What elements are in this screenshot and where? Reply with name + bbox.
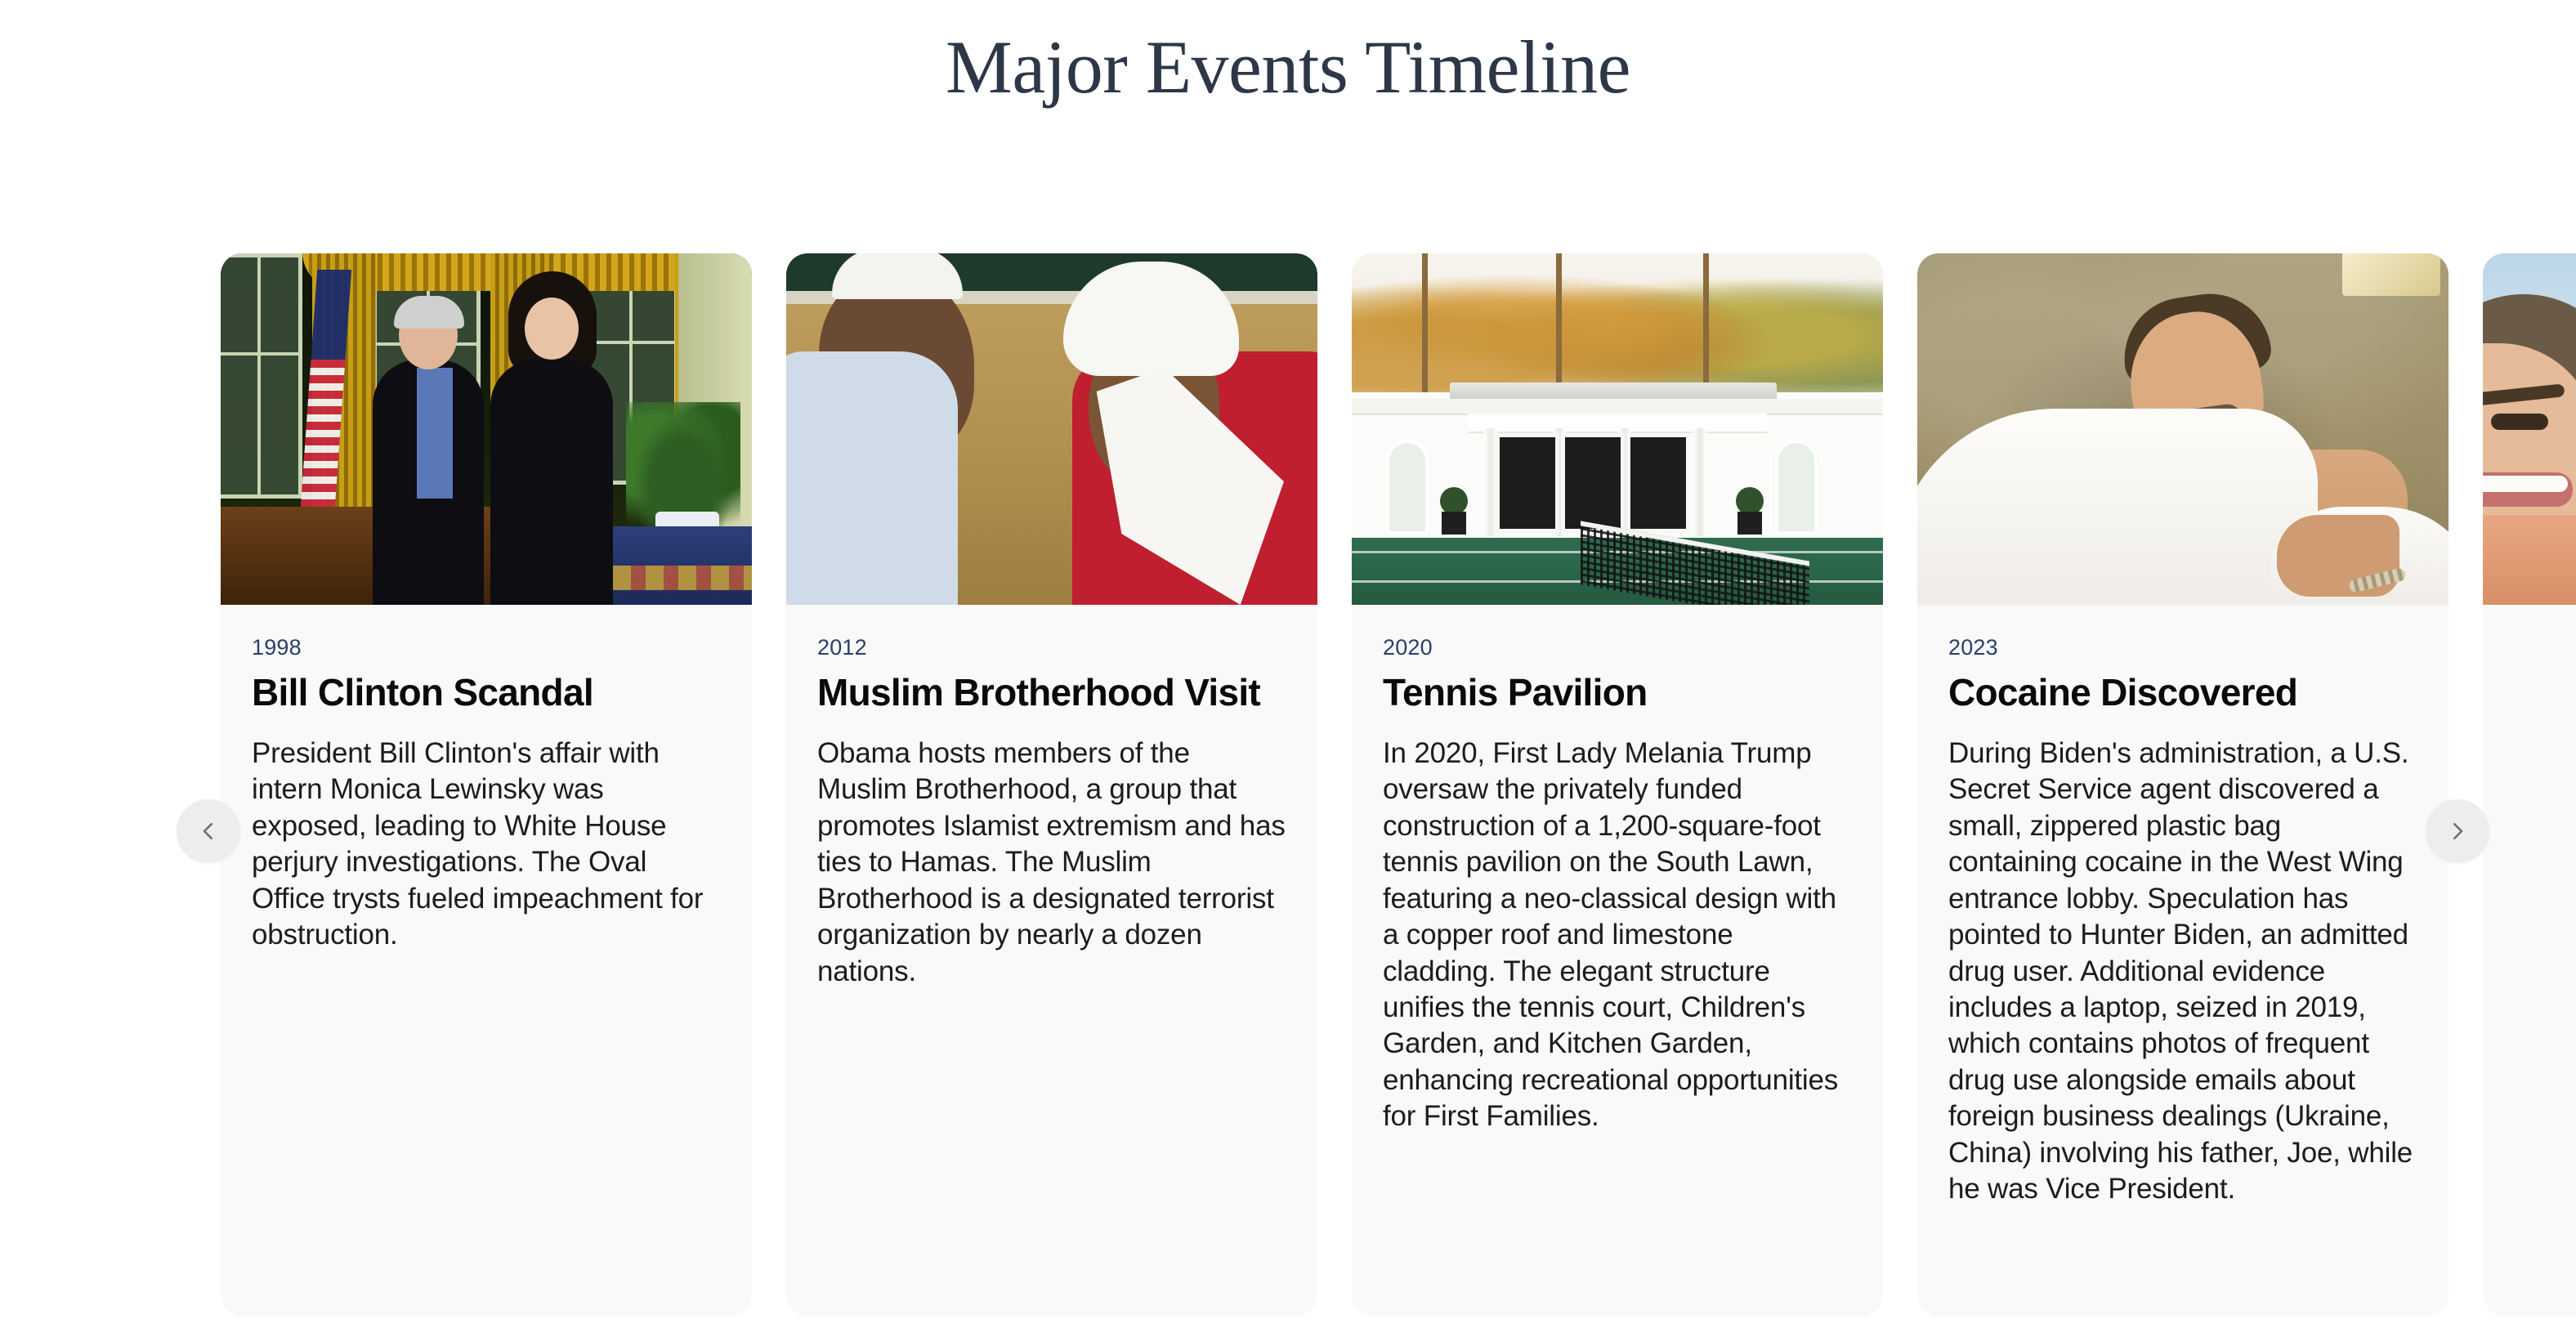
card-body: 2012 Muslim Brotherhood Visit Obama host… xyxy=(786,605,1317,990)
timeline-card[interactable]: 2020 Tennis Pavilion In 2020, First Lady… xyxy=(1352,253,1883,1316)
card-year: 2012 xyxy=(817,634,1286,660)
window-light xyxy=(2342,253,2440,296)
white-cap xyxy=(832,253,963,299)
timeline-card[interactable]: 2012 Muslim Brotherhood Visit Obama host… xyxy=(786,253,1317,1316)
timeline-card[interactable] xyxy=(2483,253,2576,1316)
chevron-left-icon xyxy=(196,819,221,843)
bathtub-photo xyxy=(1917,253,2449,605)
page-title: Major Events Timeline xyxy=(0,28,2576,107)
card-body: 2020 Tennis Pavilion In 2020, First Lady… xyxy=(1352,605,1883,1135)
timeline-card[interactable]: 1998 Bill Clinton Scandal President Bill… xyxy=(221,253,752,1316)
muslim-brotherhood-photo xyxy=(786,253,1317,605)
timeline-card[interactable]: 2023 Cocaine Discovered During Biden's a… xyxy=(1917,253,2449,1316)
chevron-right-icon xyxy=(2445,819,2470,843)
topiary-shrub xyxy=(1440,487,1468,515)
light-blue-shirt xyxy=(786,351,958,605)
card-body: 2023 Cocaine Discovered During Biden's a… xyxy=(1917,605,2449,1208)
teeth xyxy=(2483,476,2568,492)
copper-roof xyxy=(1450,382,1777,400)
portrait-photo xyxy=(2483,253,2576,605)
card-description: Obama hosts members of the Muslim Brothe… xyxy=(817,736,1286,990)
card-description: President Bill Clinton's affair with int… xyxy=(252,736,721,954)
glass-door xyxy=(1496,433,1559,533)
card-image xyxy=(1917,253,2449,605)
card-year: 2023 xyxy=(1948,634,2417,660)
oval-office-photo xyxy=(221,253,752,605)
card-image xyxy=(221,253,752,605)
planter-box xyxy=(1737,512,1762,535)
column xyxy=(1693,428,1706,536)
woman-face xyxy=(525,297,579,360)
card-title: Tennis Pavilion xyxy=(1383,672,1852,714)
tennis-pavilion-photo xyxy=(1352,253,1883,605)
card-description: During Biden's administration, a U.S. Se… xyxy=(1948,736,2417,1208)
card-image xyxy=(1352,253,1883,605)
entablature xyxy=(1468,414,1767,432)
card-image xyxy=(786,253,1317,605)
card-year: 1998 xyxy=(252,634,721,660)
arched-window xyxy=(1775,440,1818,535)
eye xyxy=(2491,414,2548,430)
bathtub xyxy=(1917,409,2318,605)
topiary-shrub xyxy=(1736,487,1764,515)
autumn-trees xyxy=(1352,253,1883,400)
glass-door xyxy=(1561,433,1625,533)
card-description: In 2020, First Lady Melania Trump oversa… xyxy=(1383,736,1852,1135)
timeline-carousel[interactable]: 1998 Bill Clinton Scandal President Bill… xyxy=(0,253,2576,1316)
carousel-track[interactable]: 1998 Bill Clinton Scandal President Bill… xyxy=(221,253,2576,1316)
timeline-page: Major Events Timeline xyxy=(0,0,2576,1342)
card-body: 1998 Bill Clinton Scandal President Bill… xyxy=(221,605,752,954)
tree-trunk xyxy=(1703,253,1709,392)
tree-trunk xyxy=(1422,253,1428,400)
card-year: 2020 xyxy=(1383,634,1852,660)
card-body xyxy=(2483,605,2576,634)
tree-trunk xyxy=(1556,253,1562,400)
woman-figure xyxy=(490,360,613,605)
planter-box xyxy=(1442,512,1466,535)
arched-window xyxy=(1386,440,1429,535)
card-title: Muslim Brotherhood Visit xyxy=(817,672,1286,714)
cornice xyxy=(1352,399,1883,414)
carousel-next-button[interactable] xyxy=(2426,799,2489,863)
card-image xyxy=(2483,253,2576,605)
window-shape xyxy=(221,253,302,499)
card-title: Bill Clinton Scandal xyxy=(252,672,721,714)
card-title: Cocaine Discovered xyxy=(1948,672,2417,714)
carousel-prev-button[interactable] xyxy=(177,799,240,863)
shirt xyxy=(2483,515,2576,605)
glass-door xyxy=(1626,433,1690,533)
man-shirt xyxy=(417,368,453,499)
